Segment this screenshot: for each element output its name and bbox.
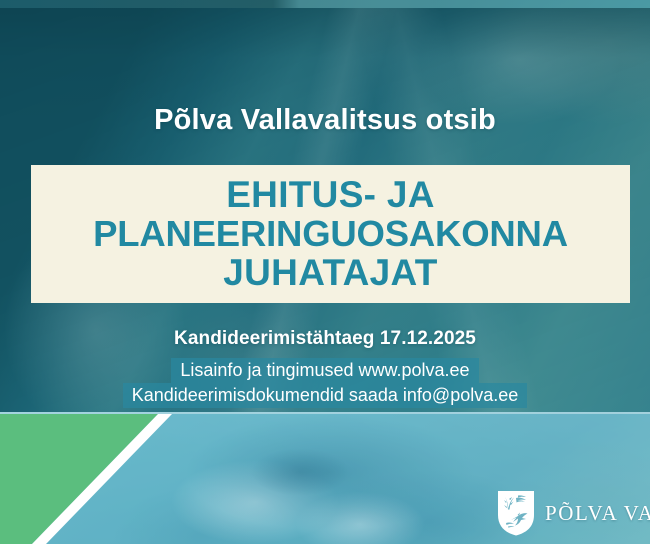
application-deadline: Kandideerimistähtaeg 17.12.2025 [0,328,650,350]
organization-kicker: Põlva Vallavalitsus otsib [0,104,650,137]
coat-of-arms-shield-icon [496,489,536,537]
top-edge-band [0,0,650,8]
job-title-line-2: PLANEERINGUOSAKONNA [39,215,622,254]
job-title: EHITUS- JA PLANEERINGUOSAKONNA JUHATAJAT [31,175,630,292]
recruitment-poster: Põlva Vallavalitsus otsib EHITUS- JA PLA… [0,0,650,544]
section-divider-line [0,412,650,414]
info-line-website: Lisainfo ja tingimused www.polva.ee [171,358,478,383]
info-line-email: Kandideerimisdokumendid saada info@polva… [123,383,528,408]
job-title-line-3: JUHATAJAT [39,253,622,292]
contact-info-block: Lisainfo ja tingimused www.polva.ee Kand… [0,358,650,408]
job-title-line-1: EHITUS- JA [39,175,622,214]
job-title-panel: EHITUS- JA PLANEERINGUOSAKONNA JUHATAJAT [31,165,630,303]
polva-vald-logo: PÕLVA VALD [496,489,650,537]
logo-wordmark: PÕLVA VALD [545,501,650,526]
